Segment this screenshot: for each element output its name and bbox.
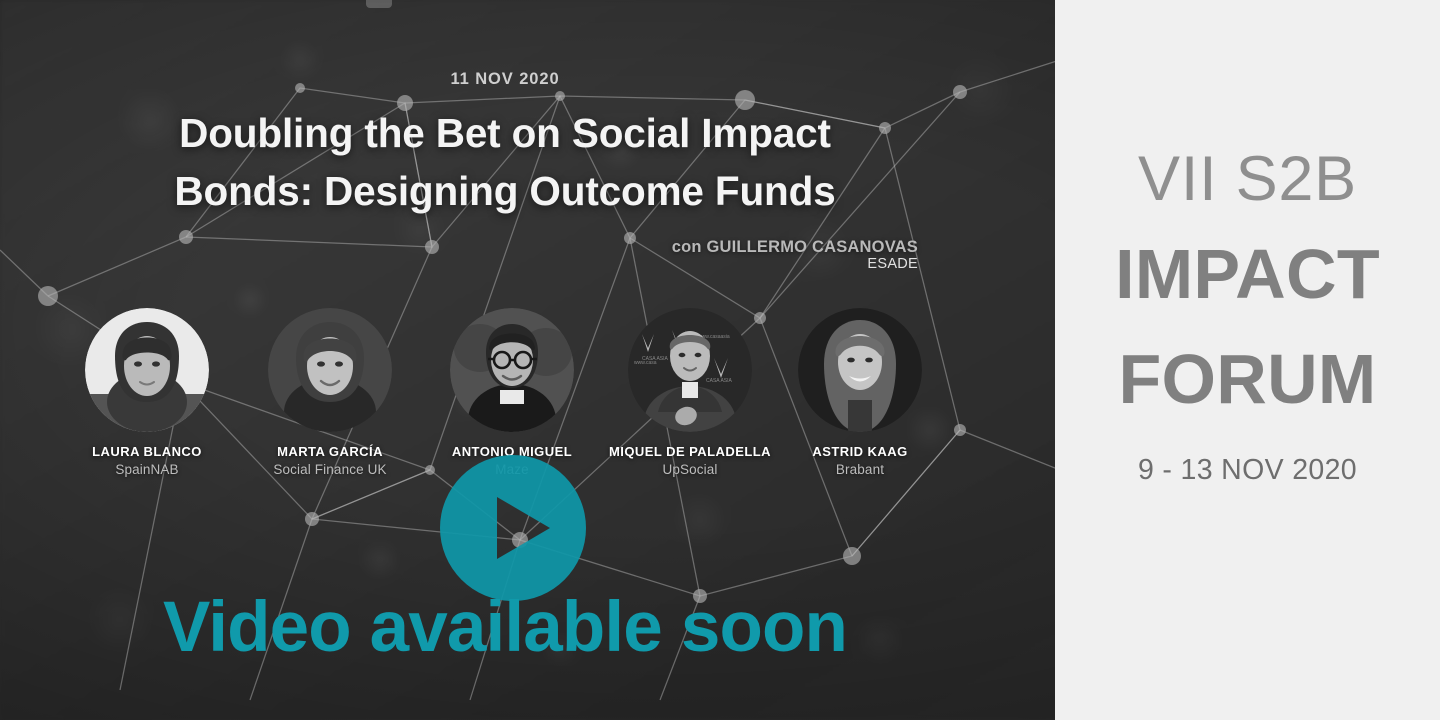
play-button[interactable] — [440, 455, 586, 601]
speaker-name: ASTRID KAAG — [760, 444, 960, 459]
avatar — [268, 308, 392, 432]
brand-name-line-1: IMPACT — [1055, 239, 1440, 309]
video-promo-card: 11 NOV 2020 Doubling the Bet on Social I… — [0, 0, 1440, 720]
svg-text:CASA ASIA: CASA ASIA — [642, 356, 669, 362]
speaker-org: Brabant — [760, 462, 960, 477]
video-availability-banner: Video available soon — [0, 592, 1010, 663]
speaker-card: ANTONIO MIGUEL Maze — [412, 308, 612, 477]
speaker-name: MARTA GARCÍA — [230, 444, 430, 459]
speaker-name: LAURA BLANCO — [47, 444, 247, 459]
event-date-label: 11 NOV 2020 — [0, 70, 1010, 89]
brand-name-line-2: FORUM — [1055, 344, 1440, 414]
event-title: Doubling the Bet on Social Impact Bonds:… — [40, 104, 970, 221]
event-title-line-2: Bonds: Designing Outcome Funds — [40, 162, 970, 220]
speaker-card: ASTRID KAAG Brabant — [760, 308, 960, 477]
avatar — [798, 308, 922, 432]
svg-text:CASA ASIA: CASA ASIA — [706, 378, 733, 384]
brand-panel-text: VII S2B IMPACT FORUM 9 - 13 NOV 2020 — [1055, 0, 1440, 720]
event-title-line-1: Doubling the Bet on Social Impact — [179, 110, 831, 156]
forum-dates: 9 - 13 NOV 2020 — [1055, 456, 1440, 485]
play-triangle-icon[interactable] — [440, 455, 586, 601]
speaker-org: Social Finance UK — [230, 462, 430, 477]
speaker-org: SpainNAB — [47, 462, 247, 477]
edition-label: VII S2B — [1055, 148, 1440, 211]
cropped-logo-remnant — [366, 0, 392, 8]
host-organization: ESADE — [498, 256, 918, 272]
avatar — [450, 308, 574, 432]
avatar: www.casawww.casaasia CASA ASIACASA ASIA — [628, 308, 752, 432]
avatar — [85, 308, 209, 432]
host-name: con GUILLERMO CASANOVAS — [498, 238, 918, 257]
speaker-card: LAURA BLANCO SpainNAB — [47, 308, 247, 477]
speaker-card: MARTA GARCÍA Social Finance UK — [230, 308, 430, 477]
